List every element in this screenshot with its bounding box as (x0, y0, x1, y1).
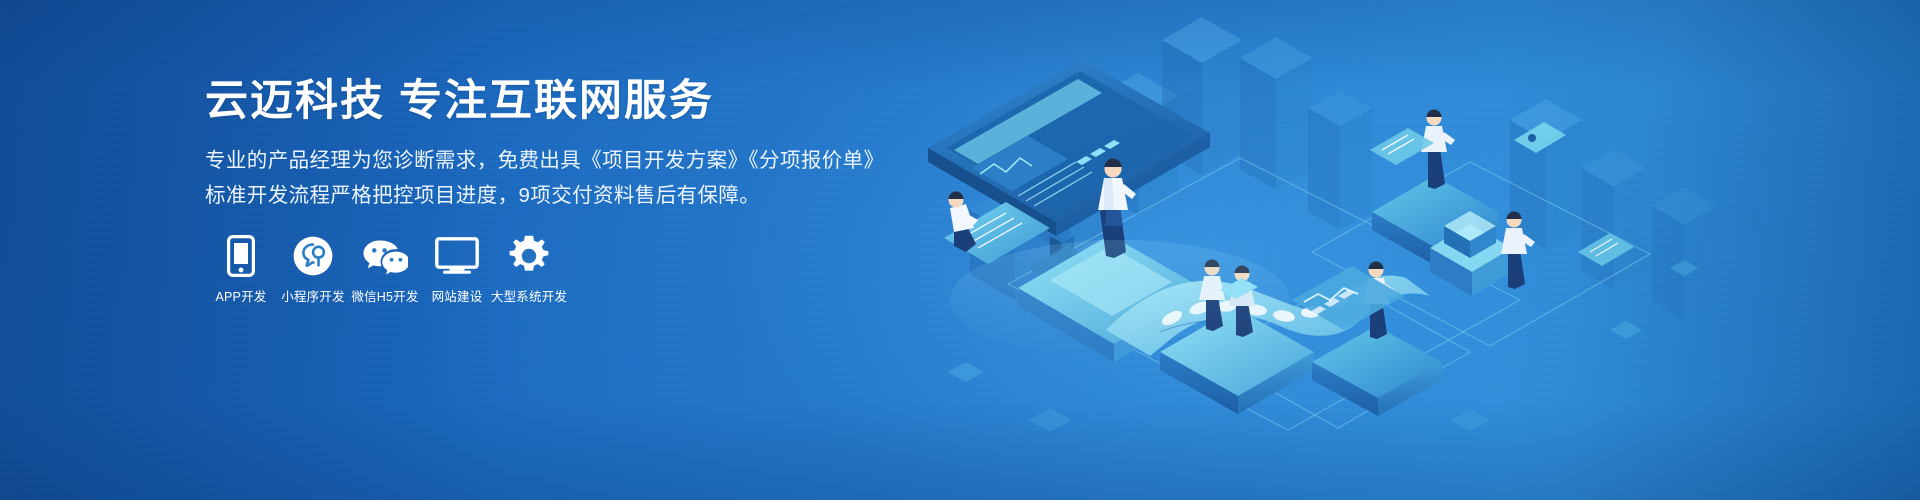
service-label: 小程序开发 (281, 289, 345, 305)
service-item-website[interactable]: 网站建设 (421, 232, 493, 305)
mobile-phone-icon (227, 232, 255, 280)
service-item-mini-program[interactable]: 小程序开发 (277, 232, 349, 305)
service-item-wechat-h5[interactable]: 微信H5开发 (349, 232, 421, 305)
mini-program-icon (292, 232, 334, 280)
service-label: APP开发 (215, 289, 266, 305)
service-label: 微信H5开发 (351, 289, 418, 305)
service-label: 大型系统开发 (491, 289, 567, 305)
hero-subcopy: 专业的产品经理为您诊断需求，免费出具《项目开发方案》《分项报价单》 标准开发流程… (205, 143, 925, 213)
subcopy-line-1: 专业的产品经理为您诊断需求，免费出具《项目开发方案》《分项报价单》 (205, 143, 925, 178)
service-label: 网站建设 (432, 289, 483, 305)
hero-banner: 云迈科技 专注互联网服务 专业的产品经理为您诊断需求，免费出具《项目开发方案》《… (0, 0, 1920, 500)
lower-right-podium (1312, 326, 1442, 416)
service-item-app[interactable]: APP开发 (205, 232, 277, 305)
floating-mini-screen (1370, 128, 1434, 165)
monitor-icon (435, 232, 479, 280)
subcopy-line-2: 标准开发流程严格把控项目进度，9项交付资料售后有保障。 (205, 178, 925, 213)
isometric-illustration (910, 0, 1920, 500)
page-title: 云迈科技 专注互联网服务 (205, 74, 925, 128)
service-links: APP开发 小程序开发 (205, 232, 565, 305)
gear-icon (508, 232, 550, 280)
hero-copy: 云迈科技 专注互联网服务 专业的产品经理为您诊断需求，免费出具《项目开发方案》《… (205, 74, 925, 213)
wechat-icon (362, 232, 408, 280)
service-item-large-system[interactable]: 大型系统开发 (493, 232, 565, 305)
person-standing-upper-right (1421, 110, 1455, 190)
